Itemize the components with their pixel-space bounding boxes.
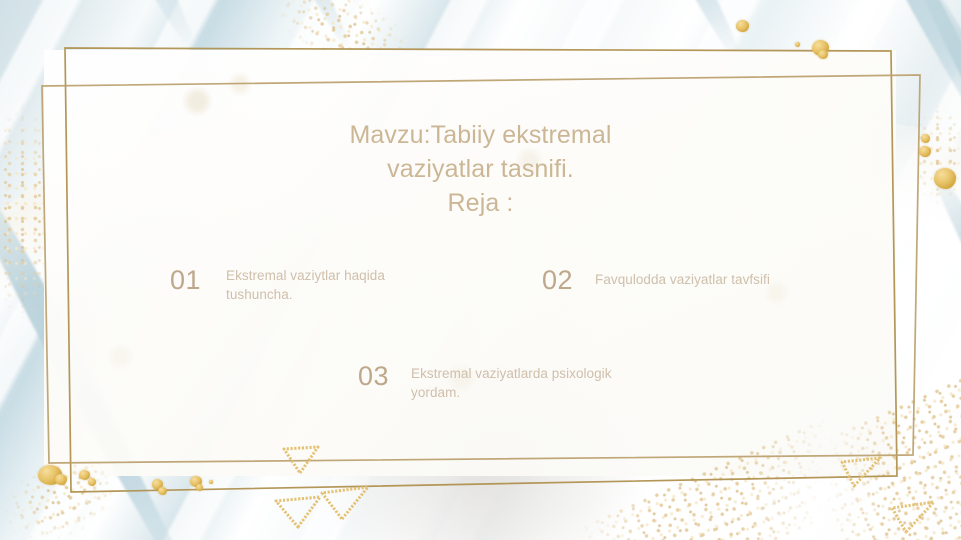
agenda-heading: Reja : (0, 186, 961, 220)
slide-text-content: Mavzu:Tabiiy ekstremal vaziyatlar tasnif… (0, 0, 961, 540)
slide-title: Mavzu:Tabiiy ekstremal vaziyatlar tasnif… (0, 118, 961, 220)
agenda-item-label: Favqulodda vaziyatlar tavfsifi (595, 270, 825, 289)
agenda-item-02: 02 Favqulodda vaziyatlar tavfsifi (542, 266, 842, 294)
title-line-1: Mavzu:Tabiiy ekstremal (0, 118, 961, 152)
presentation-slide: Mavzu:Tabiiy ekstremal vaziyatlar tasnif… (0, 0, 961, 540)
agenda-item-number: 01 (170, 266, 201, 294)
title-line-2: vaziyatlar tasnifi. (0, 152, 961, 186)
agenda-item-01: 01 Ekstremal vaziytlar haqida tushuncha. (170, 266, 420, 304)
agenda-item-number: 03 (358, 362, 389, 390)
agenda-item-03: 03 Ekstremal vaziyatlarda psixologik yor… (358, 362, 678, 402)
agenda-item-label: Ekstremal vaziytlar haqida tushuncha. (226, 266, 420, 304)
agenda-item-number: 02 (542, 266, 573, 294)
agenda-item-label: Ekstremal vaziyatlarda psixologik yordam… (411, 364, 661, 402)
